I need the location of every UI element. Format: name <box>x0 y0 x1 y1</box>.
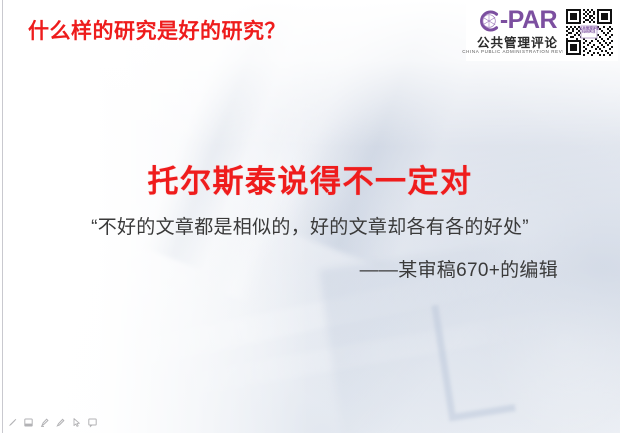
qr-label-line-2: 扫码关注 <box>582 31 595 35</box>
cpar-c-monogram-icon <box>478 9 500 33</box>
cpar-logo-text: -PAR 公共管理评论 CHINA PUBLIC ADMINISTRATION … <box>472 8 563 55</box>
pencil-icon[interactable] <box>55 417 66 428</box>
page-title: 什么样的研究是好的研究？ <box>28 15 286 45</box>
cursor-icon[interactable] <box>71 417 82 428</box>
cpar-chinese-name: 公共管理评论 <box>472 37 563 50</box>
eraser-icon[interactable] <box>23 417 34 428</box>
slide-quote: “不好的文章都是相似的，好的文章却各有各的好处” <box>0 212 620 239</box>
presentation-slide: 什么样的研究是好的研究？ -PAR 公共管理评论 CHINA PUBLIC AD… <box>0 0 620 433</box>
cpar-english-name: CHINA PUBLIC ADMINISTRATION REVIEW <box>461 51 575 55</box>
qr-code[interactable]: 公共管理评论 扫码关注 <box>563 6 615 58</box>
pen-icon[interactable] <box>7 417 18 428</box>
cpar-logo-block: -PAR 公共管理评论 CHINA PUBLIC ADMINISTRATION … <box>466 2 618 61</box>
cpar-wordmark-text: -PAR <box>500 8 557 33</box>
slide-attribution: ——某审稿670+的编辑 <box>360 255 558 282</box>
cpar-wordmark: -PAR <box>472 8 563 34</box>
note-icon[interactable] <box>87 417 98 428</box>
annotation-toolbar[interactable] <box>7 417 98 428</box>
highlighter-icon[interactable] <box>39 417 50 428</box>
slide-headline: 托尔斯泰说得不一定对 <box>0 156 620 201</box>
qr-center-label: 公共管理评论 扫码关注 <box>581 25 598 38</box>
